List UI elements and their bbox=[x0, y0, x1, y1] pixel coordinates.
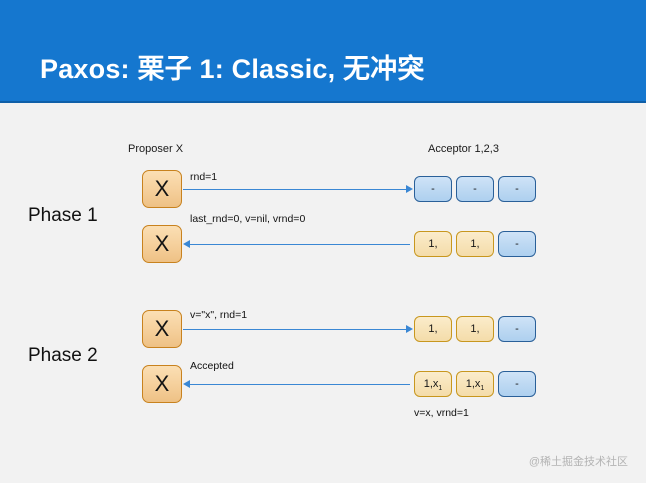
acceptor-cell-p2req-1: 1, bbox=[414, 316, 452, 342]
acceptor-cell-p1resp-3: - bbox=[498, 231, 536, 257]
arrow-phase2-request bbox=[183, 329, 408, 330]
acceptor-cell-text: - bbox=[515, 183, 519, 195]
acceptor-cell-p2resp-1: 1,x1 bbox=[414, 371, 452, 397]
proposer-node-phase2-request: X bbox=[142, 310, 182, 348]
acceptor-cell-text: 1,x bbox=[466, 378, 481, 390]
arrow-head-phase2-request bbox=[406, 325, 413, 333]
acceptor-cell-p2req-2: 1, bbox=[456, 316, 494, 342]
acceptor-cell-p2resp-3: - bbox=[498, 371, 536, 397]
acceptor-cell-p1req-2: - bbox=[456, 176, 494, 202]
acceptor-cell-text: 1,x bbox=[424, 378, 439, 390]
slide-header: Paxos: 栗子 1: Classic, 无冲突 bbox=[0, 0, 646, 103]
message-label-phase2-request: v="x", rnd=1 bbox=[190, 309, 247, 321]
arrow-head-phase2-response bbox=[183, 380, 190, 388]
arrow-head-phase1-response bbox=[183, 240, 190, 248]
watermark: @稀土掘金技术社区 bbox=[529, 453, 628, 469]
phase-2-label: Phase 2 bbox=[28, 345, 98, 367]
arrow-phase1-request bbox=[183, 189, 408, 190]
footnote-label: v=x, vrnd=1 bbox=[414, 407, 469, 419]
acceptor-cell-p1resp-1: 1, bbox=[414, 231, 452, 257]
slide: Paxos: 栗子 1: Classic, 无冲突 Proposer X Acc… bbox=[0, 0, 646, 483]
acceptor-column-label: Acceptor 1,2,3 bbox=[428, 143, 499, 155]
arrow-phase1-response bbox=[190, 244, 410, 245]
acceptor-cell-text: 1, bbox=[428, 323, 437, 335]
acceptor-cell-subscript: 1 bbox=[438, 385, 442, 392]
acceptor-cell-text: 1, bbox=[470, 238, 479, 250]
acceptor-cell-text: 1, bbox=[470, 323, 479, 335]
acceptor-cell-text: - bbox=[515, 378, 519, 390]
proposer-node-phase1-request: X bbox=[142, 170, 182, 208]
message-label-phase1-request: rnd=1 bbox=[190, 171, 217, 183]
acceptor-cell-text: - bbox=[515, 323, 519, 335]
acceptor-cell-text: - bbox=[515, 238, 519, 250]
acceptor-cell-p2req-3: - bbox=[498, 316, 536, 342]
page-title: Paxos: 栗子 1: Classic, 无冲突 bbox=[40, 47, 425, 86]
phase-1-label: Phase 1 bbox=[28, 205, 98, 227]
acceptor-cell-subscript: 1 bbox=[480, 385, 484, 392]
acceptor-cell-p1req-1: - bbox=[414, 176, 452, 202]
diagram-canvas: Proposer X Acceptor 1,2,3 Phase 1 Phase … bbox=[0, 105, 646, 483]
arrow-head-phase1-request bbox=[406, 185, 413, 193]
proposer-column-label: Proposer X bbox=[128, 143, 183, 155]
acceptor-cell-p1resp-2: 1, bbox=[456, 231, 494, 257]
acceptor-cell-p1req-3: - bbox=[498, 176, 536, 202]
message-label-phase2-response: Accepted bbox=[190, 360, 234, 372]
arrow-phase2-response bbox=[190, 384, 410, 385]
proposer-node-phase2-response: X bbox=[142, 365, 182, 403]
acceptor-cell-text: - bbox=[431, 183, 435, 195]
proposer-node-phase1-response: X bbox=[142, 225, 182, 263]
acceptor-cell-text: 1, bbox=[428, 238, 437, 250]
acceptor-cell-text: - bbox=[473, 183, 477, 195]
acceptor-cell-p2resp-2: 1,x1 bbox=[456, 371, 494, 397]
message-label-phase1-response: last_rnd=0, v=nil, vrnd=0 bbox=[190, 213, 305, 225]
